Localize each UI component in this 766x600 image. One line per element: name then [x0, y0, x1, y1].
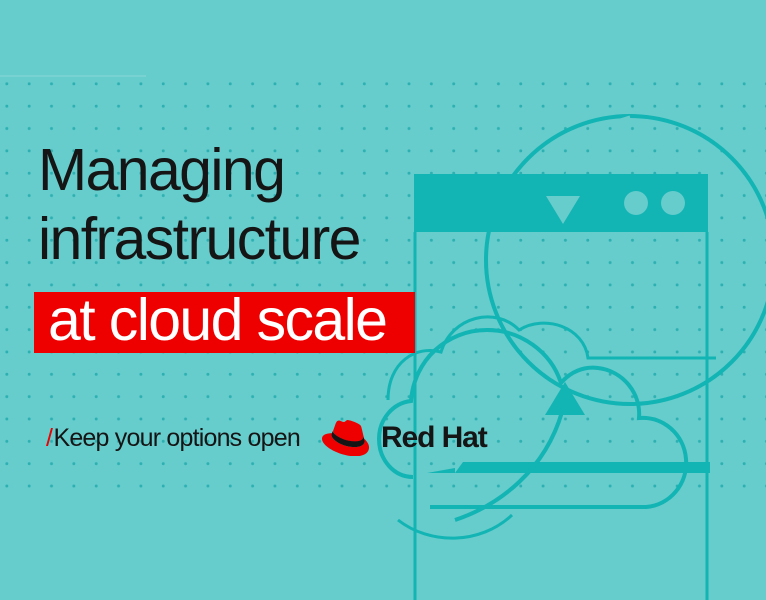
headline-line-2: infrastructure [38, 206, 360, 272]
highlight-band: at cloud scale [34, 292, 415, 353]
ground-bar [455, 462, 710, 473]
headline-highlight: at cloud scale [48, 286, 386, 355]
ground-bar-tail [427, 468, 455, 473]
browser-dot-2 [661, 191, 685, 215]
slash-accent: / [46, 426, 52, 451]
headline-line-1: Managing [38, 137, 284, 203]
red-hat-fedora-icon [322, 420, 374, 456]
tagline-row: / Keep your options open Red Hat [46, 419, 487, 457]
page-title: Managinginfrastructure [38, 136, 458, 274]
red-hat-wordmark: Red Hat [381, 423, 487, 453]
cloud-wisp-outline [388, 317, 716, 400]
circle-arc [486, 116, 766, 404]
promo-banner: Managinginfrastructure at cloud scale / … [0, 0, 766, 600]
red-hat-logo[interactable]: Red Hat [322, 420, 487, 456]
tagline-text: Keep your options open [53, 426, 300, 451]
browser-dot-1 [624, 191, 648, 215]
upload-arrow-icon [545, 382, 585, 415]
